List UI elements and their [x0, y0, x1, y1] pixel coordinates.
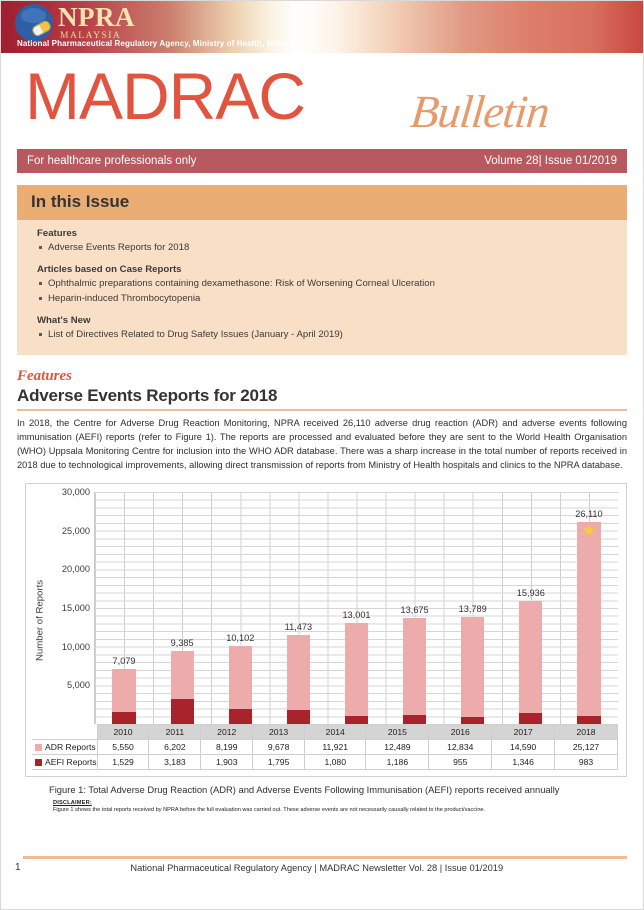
- bar-segment-aefi: [287, 710, 310, 724]
- chart-bar-2014[interactable]: [345, 623, 368, 724]
- bar-segment-adr: [229, 646, 252, 709]
- audience-label: For healthcare professionals only: [27, 155, 196, 167]
- agency-name-line: National Pharmaceutical Regulatory Agenc…: [17, 39, 301, 48]
- bar-segment-adr: [112, 669, 135, 712]
- table-cell: 955: [429, 754, 492, 769]
- table-header: 201020112012201320142015201620172018: [32, 724, 618, 739]
- bar-segment-aefi: [519, 713, 542, 723]
- chart-bar-2010[interactable]: [112, 669, 135, 724]
- bar-segment-adr: [171, 651, 194, 699]
- table-cell: 1,903: [201, 754, 253, 769]
- table-column-header: 2015: [366, 724, 429, 739]
- chart-plot-row: Number of Reports 05,00010,00015,00020,0…: [32, 492, 618, 724]
- volume-issue-label: Volume 28| Issue 01/2019: [484, 155, 617, 167]
- chart-bar-2015[interactable]: [403, 618, 426, 724]
- table-cell: 1,795: [253, 754, 305, 769]
- table-cell: 1,529: [97, 754, 149, 769]
- chart-bar-2016[interactable]: [461, 617, 484, 724]
- disclaimer-text: Figure 1 shows the total reports receive…: [53, 807, 627, 813]
- table-column-header: 2018: [555, 724, 618, 739]
- list-item[interactable]: Heparin-induced Thrombocytopenia: [37, 292, 613, 306]
- table-body: ADR Reports5,5506,2028,1999,67811,92112,…: [32, 739, 618, 769]
- legend-swatch-icon: [35, 759, 42, 766]
- chart-bar-2018[interactable]: [577, 522, 600, 724]
- table-cell: 6,202: [149, 739, 201, 754]
- table-corner-cell: [32, 724, 97, 739]
- table-row: ADR Reports5,5506,2028,1999,67811,92112,…: [32, 739, 618, 754]
- bar-segment-adr: [403, 618, 426, 715]
- chart-bar-2012[interactable]: [229, 646, 252, 724]
- figure-caption: Figure 1: Total Adverse Drug Reaction (A…: [49, 784, 627, 795]
- article-body-text: In 2018, the Centre for Adverse Drug Rea…: [17, 417, 627, 473]
- figure-disclaimer: DISCLAIMER: Figure 1 shows the total rep…: [53, 800, 627, 813]
- bar-segment-aefi: [577, 716, 600, 724]
- y-axis-title: Number of Reports: [32, 492, 48, 724]
- bar-segment-adr: [519, 601, 542, 714]
- bar-value-label: 11,473: [285, 622, 312, 632]
- bar-segment-adr: [287, 635, 310, 710]
- toc-section-title-whats-new: What's New: [37, 315, 613, 326]
- table-row: AEFI Reports1,5293,1831,9031,7951,0801,1…: [32, 754, 618, 769]
- table-row: 201020112012201320142015201620172018: [32, 724, 618, 739]
- madrac-wordmark: MADRAC: [25, 63, 305, 129]
- disclaimer-title: DISCLAIMER:: [53, 800, 627, 806]
- toc-list-case-reports: Ophthalmic preparations containing dexam…: [37, 277, 613, 306]
- y-axis-tick-label: 20,000: [62, 564, 90, 574]
- in-this-issue-content: Features Adverse Events Reports for 2018…: [17, 220, 627, 355]
- legend-label: AEFI Reports: [45, 757, 97, 767]
- toc-section-title-features: Features: [37, 228, 613, 239]
- star-icon: ★: [581, 522, 596, 539]
- table-cell: 8,199: [201, 739, 253, 754]
- page-footer: 1 National Pharmaceutical Regulatory Age…: [1, 856, 643, 873]
- toc-section-title-case-reports: Articles based on Case Reports: [37, 264, 613, 275]
- table-cell: 25,127: [555, 739, 618, 754]
- chart-bar-2017[interactable]: [519, 601, 542, 724]
- table-column-header: 2014: [305, 724, 366, 739]
- list-item[interactable]: Ophthalmic preparations containing dexam…: [37, 277, 613, 291]
- npra-logo-text: NPRA MALAYSIA: [58, 4, 135, 42]
- bar-segment-adr: [577, 522, 600, 716]
- bar-value-label: 15,936: [517, 588, 545, 598]
- bar-value-label: 13,789: [459, 604, 487, 614]
- bar-value-label: 9,385: [171, 638, 194, 648]
- bar-segment-adr: [461, 617, 484, 716]
- newsletter-page: NPRA MALAYSIA National Pharmaceutical Re…: [0, 0, 644, 910]
- title-divider: [17, 409, 627, 412]
- npra-logo-icon: [15, 4, 53, 42]
- y-axis-tick-label: 25,000: [62, 526, 90, 536]
- in-this-issue-box: In this Issue Features Adverse Events Re…: [17, 185, 627, 355]
- y-axis-tick-label: 10,000: [62, 642, 90, 652]
- list-item[interactable]: Adverse Events Reports for 2018: [37, 241, 613, 255]
- table-cell: 12,489: [366, 739, 429, 754]
- bar-value-label: 13,675: [401, 605, 429, 615]
- y-axis-tick-label: 5,000: [67, 680, 90, 690]
- bar-segment-aefi: [403, 715, 426, 724]
- bar-segment-aefi: [345, 716, 368, 724]
- bulletin-script-word: Bulletin: [409, 89, 551, 135]
- table-cell: 1,080: [305, 754, 366, 769]
- publication-title-block: MADRAC Bulletin: [1, 61, 643, 149]
- table-cell: 3,183: [149, 754, 201, 769]
- bar-value-label: 13,001: [342, 610, 370, 620]
- bar-value-label: 10,102: [226, 633, 254, 643]
- bar-value-label: 7,079: [113, 656, 136, 666]
- bar-segment-adr: [345, 623, 368, 715]
- legend-swatch-icon: [35, 744, 42, 751]
- legend-label: ADR Reports: [45, 742, 96, 752]
- page-title: Adverse Events Reports for 2018: [17, 386, 627, 406]
- y-axis-tick-label: 30,000: [62, 487, 90, 497]
- table-cell: 1,186: [366, 754, 429, 769]
- table-cell: 983: [555, 754, 618, 769]
- masthead-banner: NPRA MALAYSIA National Pharmaceutical Re…: [1, 1, 643, 53]
- table-cell: 12,834: [429, 739, 492, 754]
- bar-segment-aefi: [461, 717, 484, 724]
- section-kicker: Features: [17, 368, 627, 385]
- feature-article: Features Adverse Events Reports for 2018…: [17, 368, 627, 473]
- table-cell: 11,921: [305, 739, 366, 754]
- legend-item-aefi: AEFI Reports: [32, 754, 97, 769]
- bar-segment-aefi: [229, 709, 252, 724]
- table-cell: 14,590: [492, 739, 555, 754]
- table-column-header: 2017: [492, 724, 555, 739]
- bar-segment-aefi: [112, 712, 135, 724]
- y-axis-ticks: 05,00010,00015,00020,00025,00030,000: [48, 492, 94, 724]
- chart-data-table: 201020112012201320142015201620172018 ADR…: [32, 724, 618, 770]
- figure-1-chart: Number of Reports 05,00010,00015,00020,0…: [25, 483, 627, 777]
- table-column-header: 2013: [253, 724, 305, 739]
- chart-bar-2013[interactable]: [287, 635, 310, 724]
- logo-wordmark: NPRA: [58, 4, 135, 31]
- in-this-issue-heading: In this Issue: [17, 185, 627, 220]
- toc-list-features: Adverse Events Reports for 2018: [37, 241, 613, 255]
- table-cell: 9,678: [253, 739, 305, 754]
- footer-label: National Pharmaceutical Regulatory Agenc…: [21, 863, 621, 873]
- list-item[interactable]: List of Directives Related to Drug Safet…: [37, 328, 613, 342]
- table-column-header: 2010: [97, 724, 149, 739]
- npra-logo: NPRA MALAYSIA: [15, 4, 135, 42]
- table-column-header: 2012: [201, 724, 253, 739]
- table-column-header: 2011: [149, 724, 201, 739]
- chart-plot-area: 7,0799,38510,10211,47313,00113,67513,789…: [94, 492, 618, 724]
- chart-bar-2011[interactable]: [171, 651, 194, 724]
- issue-bar: For healthcare professionals only Volume…: [17, 149, 627, 173]
- table-cell: 1,346: [492, 754, 555, 769]
- table-cell: 5,550: [97, 739, 149, 754]
- y-axis-tick-label: 15,000: [62, 603, 90, 613]
- legend-item-adr: ADR Reports: [32, 739, 97, 754]
- bar-value-label: 26,110: [575, 509, 602, 519]
- footer-content: 1 National Pharmaceutical Regulatory Age…: [1, 859, 643, 873]
- table-column-header: 2016: [429, 724, 492, 739]
- bar-segment-aefi: [171, 699, 194, 724]
- toc-list-whats-new: List of Directives Related to Drug Safet…: [37, 328, 613, 342]
